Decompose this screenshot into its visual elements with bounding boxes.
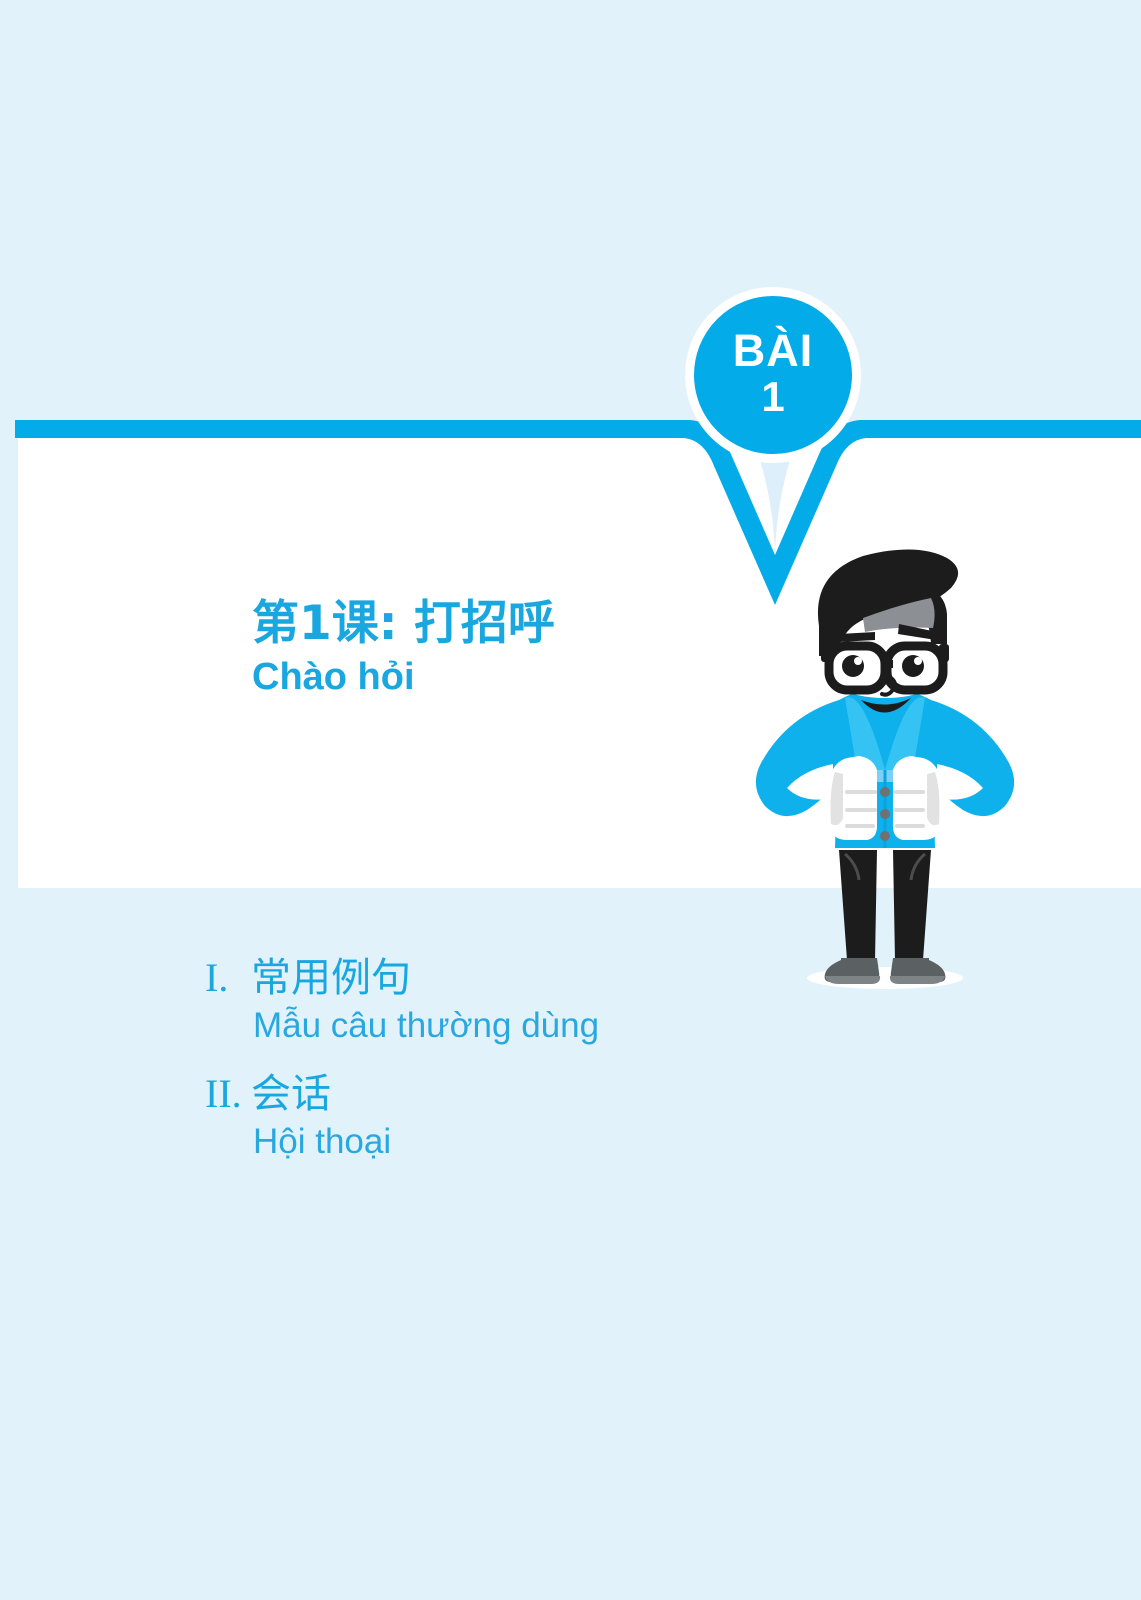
lesson-cover-page: BÀI 1 第1课: 打招呼 Chào hỏi I. 常用例句 Mẫu câu … [0,0,1141,1600]
contents-item-1-chinese: 常用例句 [251,958,411,998]
contents-item-2-chinese: 会话 [251,1074,331,1114]
right-shoe-sole-shape [890,976,945,984]
contents-item-1-main: I. 常用例句 [205,958,599,998]
contents-item-2-numeral: II. [205,1074,251,1114]
jacket-button-1 [880,787,890,797]
left-eye-glint-shape [854,657,862,665]
contents-item-2-vietnamese: Hội thoại [253,1123,599,1162]
contents-item-2-main: II. 会话 [205,1074,599,1114]
lesson-title-block: 第1课: 打招呼 Chào hỏi [252,596,555,701]
contents-item-1-vietnamese: Mẫu câu thường dùng [253,1007,599,1046]
left-shoe-sole-shape [825,976,880,984]
lesson-title-chinese: 第1课: 打招呼 [252,596,555,651]
contents-item-1: I. 常用例句 Mẫu câu thường dùng [205,958,599,1046]
man-with-glasses-illustration [735,548,1035,993]
right-eye-glint-shape [914,657,922,665]
jacket-button-2 [880,809,890,819]
lesson-badge-number: 1 [761,373,784,421]
lesson-title-vietnamese: Chào hỏi [252,655,555,701]
left-leg-shape [839,850,877,960]
contents-item-1-numeral: I. [205,958,251,998]
lesson-contents-list: I. 常用例句 Mẫu câu thường dùng II. 会话 Hội t… [205,958,599,1189]
right-leg-shape [893,850,931,960]
lesson-badge: BÀI 1 [685,287,861,463]
contents-item-2: II. 会话 Hội thoại [205,1074,599,1162]
lesson-badge-label: BÀI [733,328,814,373]
jacket-button-3 [880,831,890,841]
glasses-icon [821,644,949,690]
